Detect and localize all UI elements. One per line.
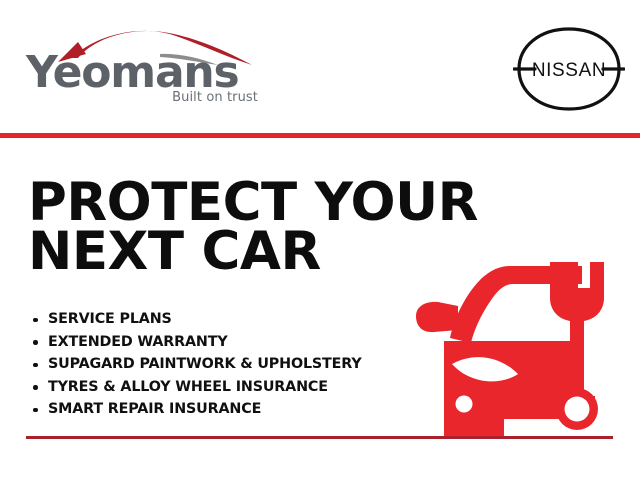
header: Yeomans Built on trust NISSAN — [0, 0, 640, 136]
list-item-label: SUPAGARD PAINTWORK & UPHOLSTERY — [48, 356, 362, 372]
yeomans-logo[interactable]: Yeomans Built on trust — [26, 28, 256, 106]
advert-banner: Yeomans Built on trust NISSAN PROTECT YO… — [0, 0, 640, 480]
list-item-label: SMART REPAIR INSURANCE — [48, 401, 261, 417]
list-item: SUPAGARD PAINTWORK & UPHOLSTERY — [30, 353, 430, 376]
divider-bottom — [26, 436, 613, 439]
list-item: SMART REPAIR INSURANCE — [30, 398, 430, 421]
nissan-wordmark: NISSAN — [532, 60, 606, 81]
benefits-list: SERVICE PLANS EXTENDED WARRANTY SUPAGARD… — [30, 308, 430, 421]
list-item: TYRES & ALLOY WHEEL INSURANCE — [30, 376, 430, 399]
list-item-label: SERVICE PLANS — [48, 311, 172, 327]
foglight-shape — [456, 396, 473, 413]
car-with-wrench-icon — [414, 246, 626, 436]
list-item-label: TYRES & ALLOY WHEEL INSURANCE — [48, 379, 328, 395]
yeomans-tagline: Built on trust — [144, 90, 258, 105]
nissan-emblem-icon: NISSAN — [513, 24, 625, 114]
nissan-logo[interactable]: NISSAN — [513, 24, 625, 114]
main-content: PROTECT YOUR NEXT CAR SERVICE PLANS EXTE… — [0, 138, 640, 438]
list-item: EXTENDED WARRANTY — [30, 331, 430, 354]
list-item-label: EXTENDED WARRANTY — [48, 334, 228, 350]
list-item: SERVICE PLANS — [30, 308, 430, 331]
